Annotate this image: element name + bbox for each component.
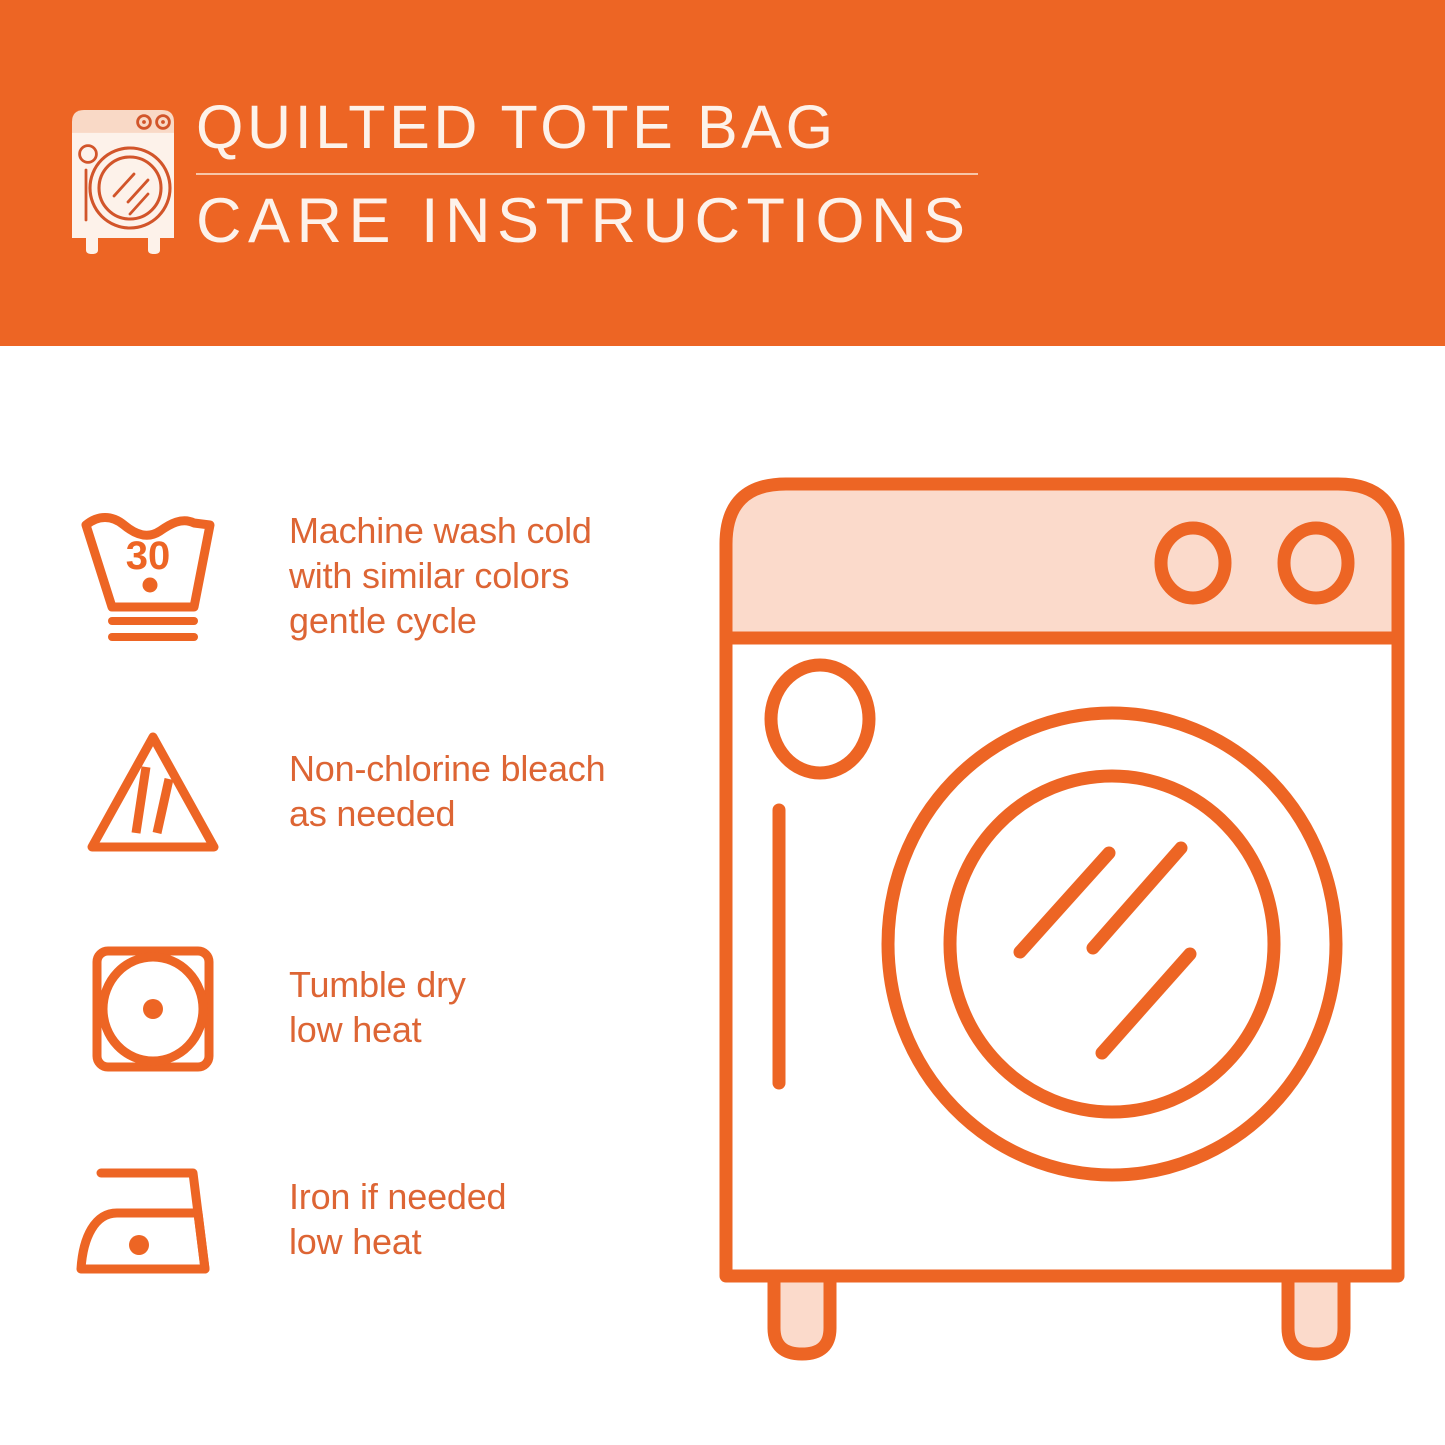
care-item-text: Non-chlorine bleach as needed	[289, 746, 689, 836]
iron-icon	[68, 1136, 238, 1306]
page-subtitle: CARE INSTRUCTIONS	[196, 184, 996, 258]
bleach-triangle-icon	[68, 708, 238, 878]
washing-machine-icon	[62, 104, 184, 256]
header-banner: QUILTED TOTE BAG CARE INSTRUCTIONS	[0, 0, 1445, 346]
care-text-line: as needed	[289, 791, 689, 836]
header-title-group: QUILTED TOTE BAG CARE INSTRUCTIONS	[196, 92, 996, 258]
care-item-machine-wash: 30 Machine wash cold with similar colors…	[0, 494, 700, 694]
title-divider	[196, 173, 978, 175]
care-item-text: Iron if needed low heat	[289, 1174, 689, 1264]
care-instructions-infographic: QUILTED TOTE BAG CARE INSTRUCTIONS 30	[0, 0, 1445, 1445]
care-text-line: Machine wash cold	[289, 508, 689, 553]
care-text-line: gentle cycle	[289, 598, 689, 643]
care-text-line: Iron if needed	[289, 1174, 689, 1219]
care-text-line: Non-chlorine bleach	[289, 746, 689, 791]
care-text-line: low heat	[289, 1219, 689, 1264]
care-item-text: Tumble dry low heat	[289, 962, 689, 1052]
care-item-iron: Iron if needed low heat	[0, 1136, 700, 1336]
washing-machine-illustration	[712, 470, 1412, 1370]
care-item-text: Machine wash cold with similar colors ge…	[289, 508, 689, 643]
care-item-bleach: Non-chlorine bleach as needed	[0, 708, 700, 908]
care-text-line: with similar colors	[289, 553, 689, 598]
tumble-dry-icon	[68, 924, 238, 1094]
care-item-tumble-dry: Tumble dry low heat	[0, 924, 700, 1124]
svg-text:30: 30	[126, 534, 171, 578]
care-text-line: low heat	[289, 1007, 689, 1052]
care-instruction-list: 30 Machine wash cold with similar colors…	[0, 346, 700, 1445]
page-title: QUILTED TOTE BAG	[196, 92, 996, 162]
wash-tub-30-icon: 30	[68, 494, 238, 664]
care-text-line: Tumble dry	[289, 962, 689, 1007]
